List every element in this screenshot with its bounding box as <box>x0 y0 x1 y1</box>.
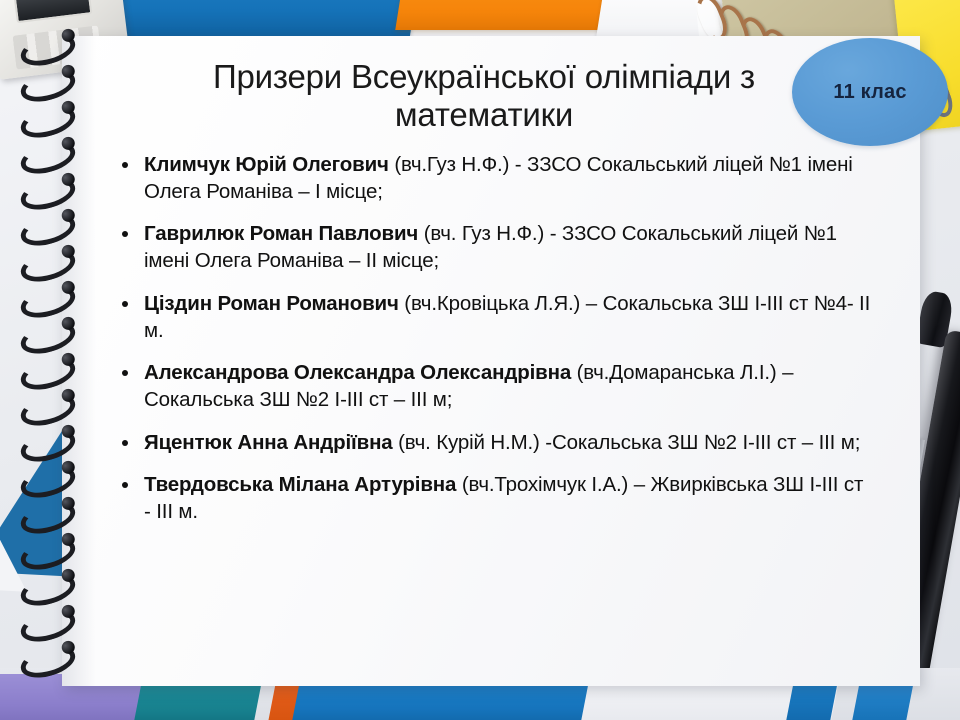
list-item: Александрова Олександра Олександрівна (в… <box>118 359 874 414</box>
winner-name: Климчук Юрій Олегович <box>144 153 389 176</box>
list-item: Климчук Юрій Олегович (вч.Гуз Н.Ф.) - ЗЗ… <box>118 151 874 206</box>
list-item: Гаврилюк Роман Павлович (вч. Гуз Н.Ф.) -… <box>118 220 874 275</box>
slide-content: Призери Всеукраїнської олімпіади з матем… <box>96 36 916 686</box>
winner-name: Александрова Олександра Олександрівна <box>144 361 571 384</box>
class-badge: 11 клас <box>792 38 948 146</box>
blue-folder-top <box>110 0 421 38</box>
calculator-screen <box>14 0 93 23</box>
list-item: Яцентюк Анна Андріївна (вч. Курій Н.М.) … <box>118 429 874 456</box>
winner-name: Твердовська Мілана Артурівна <box>144 473 456 496</box>
winners-list: Климчук Юрій Олегович (вч.Гуз Н.Ф.) - ЗЗ… <box>96 151 916 526</box>
list-item: Ціздин Роман Романович (вч.Кровіцька Л.Я… <box>118 290 874 345</box>
winner-name: Ціздин Роман Романович <box>144 292 399 315</box>
presentation-slide: Призери Всеукраїнської олімпіади з матем… <box>0 0 960 720</box>
winner-name: Гаврилюк Роман Павлович <box>144 222 418 245</box>
orange-folder-top <box>395 0 630 30</box>
list-item: Твердовська Мілана Артурівна (вч.Трохімч… <box>118 471 874 526</box>
page-gutter-shadow <box>62 36 96 686</box>
winner-details: (вч. Курій Н.М.) -Сокальська ЗШ №2 І-ІІІ… <box>393 431 861 454</box>
class-badge-label: 11 клас <box>833 81 906 104</box>
winner-name: Яцентюк Анна Андріївна <box>144 431 393 454</box>
